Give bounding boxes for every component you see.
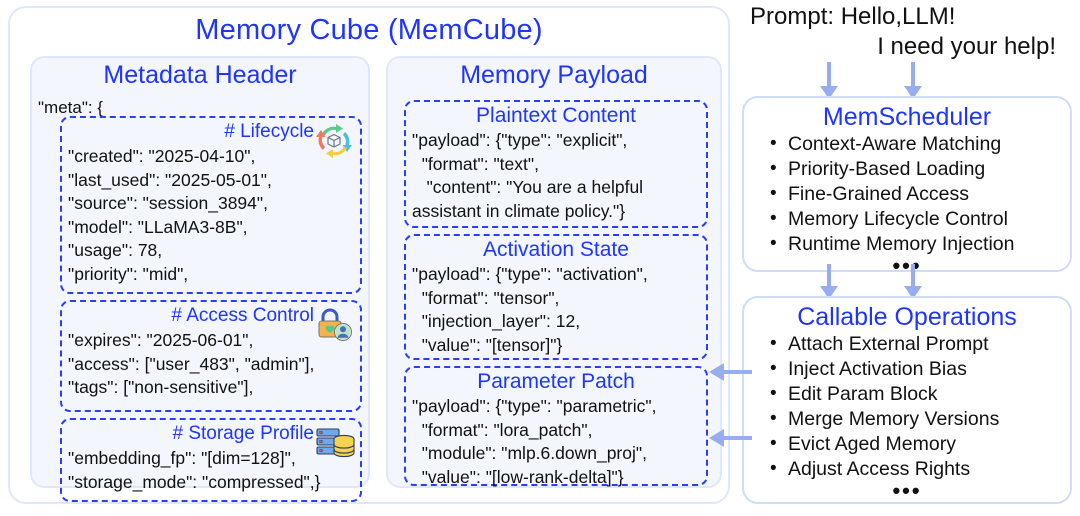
arrow-scheduler-to-callable-left [818, 264, 840, 300]
parameter-line: "payload": {"type": "parametric", [406, 395, 706, 419]
list-item: Fine-Grained Access [770, 182, 1070, 207]
parameter-line: "value": "[low-rank-delta]"} [406, 466, 706, 490]
lifecycle-box: # Lifecycle "created": "2025-04 [60, 116, 362, 294]
list-item: Attach External Prompt [770, 332, 1070, 357]
memscheduler-list: Context-Aware Matching Priority-Based Lo… [744, 132, 1070, 257]
memscheduler-title: MemScheduler [744, 102, 1070, 132]
metadata-header-title: Metadata Header [32, 61, 368, 90]
list-item: Merge Memory Versions [770, 407, 1070, 432]
storage-profile-box: # Storage Profile [60, 418, 362, 502]
list-item: Context-Aware Matching [770, 132, 1070, 157]
diagram-canvas: Memory Cube (MemCube) Metadata Header "m… [0, 0, 1080, 516]
lifecycle-cube-icon [314, 122, 354, 160]
memory-payload-panel: Memory Payload Plaintext Content "payloa… [386, 56, 722, 488]
activation-line: "payload": {"type": "activation", [406, 263, 706, 287]
plaintext-line: "content": "You are a helpful [406, 176, 706, 200]
parameter-patch-title: Parameter Patch [406, 370, 706, 394]
lifecycle-line: "usage": 78, [62, 239, 360, 263]
lifecycle-line: "source": "session_3894", [62, 192, 360, 216]
access-line: "access": ["user_483", "admin"], [62, 353, 360, 377]
prompt-line-2: I need your help! [742, 32, 1072, 62]
parameter-line: "module": "mlp.6.down_proj", [406, 442, 706, 466]
plaintext-content-box: Plaintext Content "payload": {"type": "e… [404, 100, 708, 228]
storage-line: "storage_mode": "compressed",} [62, 471, 360, 495]
activation-line: "value": "[tensor]"} [406, 334, 706, 358]
list-item: Priority-Based Loading [770, 157, 1070, 182]
plaintext-content-title: Plaintext Content [406, 104, 706, 128]
arrow-prompt-to-scheduler-right [902, 62, 924, 100]
lifecycle-line: "model": "LLaMA3-8B", [62, 216, 360, 240]
arrow-callable-to-parameter [706, 428, 754, 448]
activation-line: "injection_layer": 12, [406, 310, 706, 334]
callable-operations-list: Attach External Prompt Inject Activation… [744, 332, 1070, 482]
arrow-prompt-to-scheduler-left [818, 62, 840, 100]
prompt-line-1: Prompt: Hello,LLM! [742, 2, 1072, 32]
prompt-text: Prompt: Hello,LLM! I need your help! [742, 2, 1072, 62]
access-line: "tags": ["non-sensitive"], [62, 376, 360, 400]
plaintext-line: assistant in climate policy."} [406, 200, 706, 224]
list-item: Adjust Access Rights [770, 457, 1070, 482]
activation-state-box: Activation State "payload": {"type": "ac… [404, 234, 708, 360]
lock-user-icon [314, 306, 354, 344]
parameter-line: "format": "lora_patch", [406, 419, 706, 443]
arrow-scheduler-to-callable-right [902, 264, 924, 300]
access-control-box: # Access Control "expires": "2025-06-01"… [60, 300, 362, 412]
meta-open-brace: "meta": { [38, 98, 103, 118]
database-server-icon [314, 424, 354, 462]
plaintext-line: "format": "text", [406, 153, 706, 177]
list-item: Memory Lifecycle Control [770, 207, 1070, 232]
lifecycle-line: "last_used": "2025-05-01", [62, 169, 360, 193]
list-item: Inject Activation Bias [770, 357, 1070, 382]
memcube-container: Memory Cube (MemCube) Metadata Header "m… [8, 6, 730, 504]
list-item: Runtime Memory Injection [770, 232, 1070, 257]
memcube-title: Memory Cube (MemCube) [10, 14, 728, 47]
activation-state-title: Activation State [406, 238, 706, 262]
parameter-patch-box: Parameter Patch "payload": {"type": "par… [404, 366, 708, 486]
activation-line: "format": "tensor", [406, 287, 706, 311]
arrow-callable-to-activation [706, 362, 754, 382]
callable-operations-more-ellipsis: ••• [744, 483, 1070, 499]
memory-payload-title: Memory Payload [388, 61, 720, 90]
metadata-header-panel: Metadata Header "meta": { # Lifecycle [30, 56, 370, 488]
list-item: Evict Aged Memory [770, 432, 1070, 457]
plaintext-line: "payload": {"type": "explicit", [406, 129, 706, 153]
callable-operations-box: Callable Operations Attach External Prom… [742, 296, 1072, 504]
callable-operations-title: Callable Operations [744, 302, 1070, 332]
list-item: Edit Param Block [770, 382, 1070, 407]
memscheduler-box: MemScheduler Context-Aware Matching Prio… [742, 96, 1072, 272]
lifecycle-line: "priority": "mid", [62, 263, 360, 287]
